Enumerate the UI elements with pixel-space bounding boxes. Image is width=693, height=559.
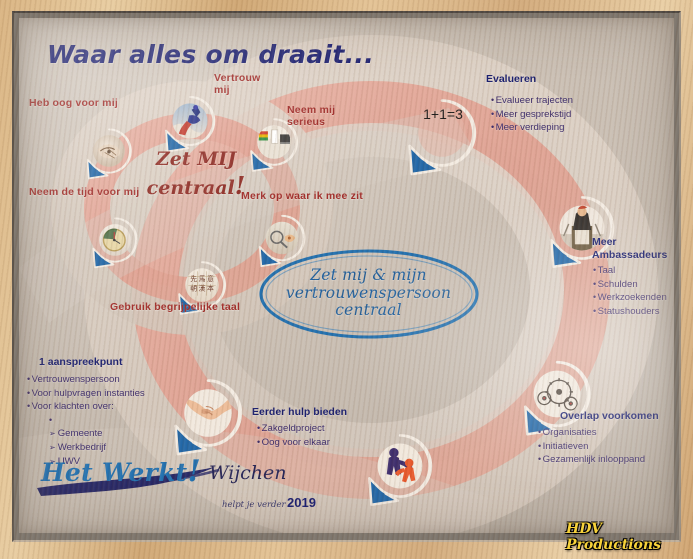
label-neem-mij-serieus: Neem mijserieus [287,104,335,129]
brand-exclamation: ! [187,454,200,489]
watermark: HDV Productions [566,521,693,553]
svg-text:意: 意 [207,274,214,283]
heading-overlap: Overlap voorkomen [560,410,659,422]
poster-artwork: 先馬意 朝漢本 [19,18,674,533]
node-eerder-hulp-bieden [369,435,431,504]
svg-text:朝: 朝 [190,284,197,292]
bullet-item: Initiatieven [538,440,645,454]
svg-text:馬: 馬 [199,275,206,283]
bullets-overlap: Organisaties Initiatieven Gezamenlijk in… [538,426,645,467]
brand-logo: Het Werkt! [41,454,201,489]
node-overlap-voorkomen [525,362,589,434]
bullets-eerder-hulp: Zakgeldproject Oog voor elkaar [257,422,330,449]
label-neem-de-tijd-voor-mij: Neem de tijd voor mij [29,186,139,198]
bullets-evalueren: Evalueer trajecten Meer gesprekstijd Mee… [491,94,573,135]
heading-aanspreekpunt: 1 aanspreekpunt [39,356,122,368]
equation-label: 1+1=3 [416,106,470,122]
node-neem-de-tijd-voor-mij [93,218,137,267]
label-merk-op-waar-ik-mee-zit: Merk op waar ik mee zit [241,190,363,202]
subbullet-item: Werkbedrijf [49,441,145,455]
brand-name: Het Werkt [41,458,187,487]
bullets-ambassadeurs: Taal Schulden Werkzoekenden Statushouder… [593,264,667,318]
page-title: Waar alles om draait... [47,40,374,69]
svg-text:本: 本 [207,283,214,292]
label-heb-oog-voor-mij: Heb oog voor mij [29,97,118,109]
bullet-item: Gezamenlijk inlooppand [538,453,645,467]
node-aanspreekpunt [176,381,241,454]
oval-line-3: centraal [335,302,402,320]
svg-text:漢: 漢 [199,283,206,292]
bullet-item: Schulden [593,278,667,292]
heading-eerder-hulp: Eerder hulp bieden [252,406,347,418]
node-vertrouw-mij [166,97,214,151]
bullet-item: Voor klachten over: [27,400,145,414]
heading-ambassadeurs-line1: Meer [592,236,617,248]
heading-ambassadeurs-line2: Ambassadeurs [592,249,667,261]
bullet-item: Meer gesprekstijd [491,108,573,122]
oval-line-1: Zet mij & mijn [310,267,426,285]
bullet-item: Oog voor elkaar [257,436,330,450]
label-gebruik-begrijpelijke-taal: Gebruik begrijpelijke taal [110,301,240,313]
bullet-item: Taal [593,264,667,278]
year-label: 2019 [287,495,316,510]
svg-text:先: 先 [190,274,197,283]
picture-frame: 先馬意 朝漢本 [0,0,693,559]
bullet-item: Werkzoekenden [593,291,667,305]
node-heb-oog-voor-mij [87,129,131,178]
bullet-item: Vertrouwenspersoon [27,373,145,387]
heading-evalueren: Evalueren [486,73,536,85]
bullet-item: Evalueer trajecten [491,94,573,108]
oval-line-2: vertrouwenspersoon [286,285,451,303]
bullet-item: Statushouders [593,305,667,319]
bullet-item: Voor hulpvragen instanties [27,387,145,401]
center-oval-text: Zet mij & mijn vertrouwenspersoon centra… [261,251,476,336]
center-oval: Zet mij & mijn vertrouwenspersoon centra… [261,251,476,336]
bullet-item: Organisaties [538,426,645,440]
tagline: helpt je verder [222,500,286,510]
label-vertrouw-mij: Vertrouwmij [214,72,261,97]
city-name: Wijchen [209,462,287,484]
bullet-item: Zakgeldproject [257,422,330,436]
bullet-item: Meer verdieping [491,121,573,135]
subbullet-item: Gemeente [49,427,145,441]
